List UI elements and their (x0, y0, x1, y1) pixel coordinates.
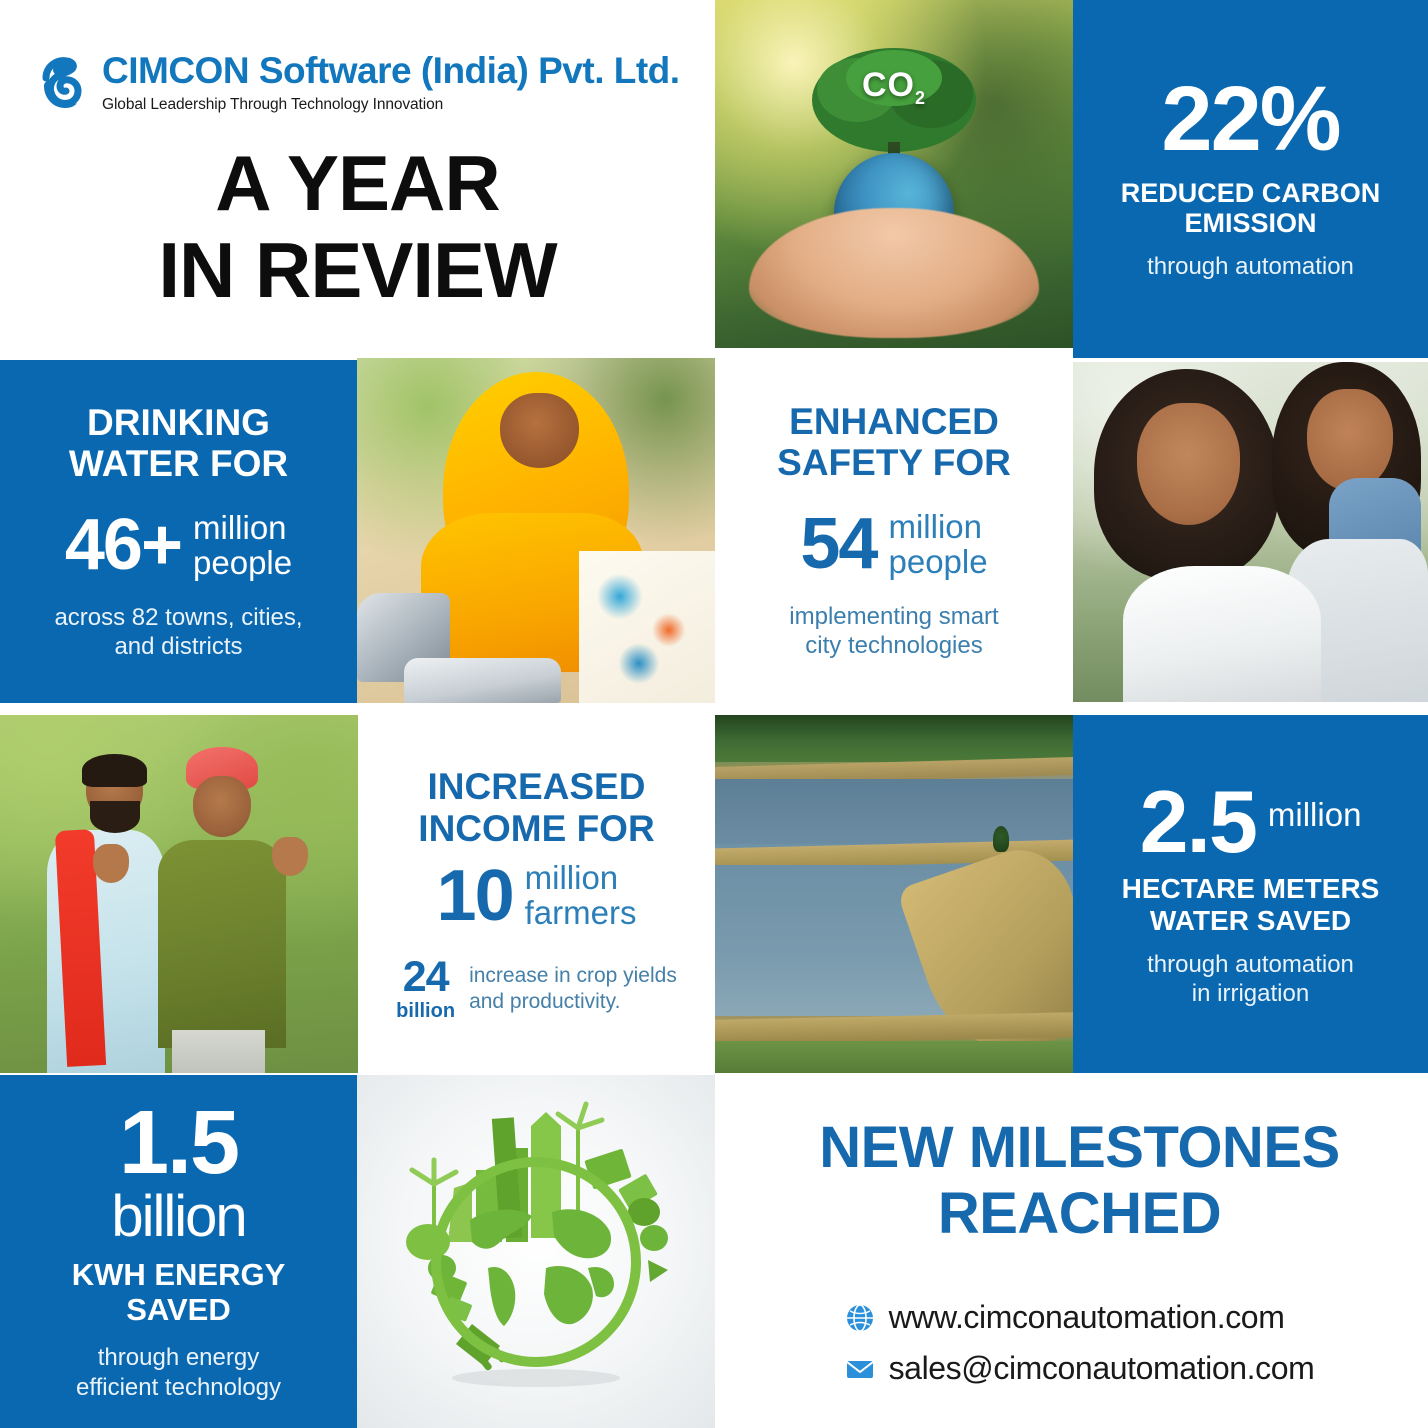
safety-sub-line2: city technologies (789, 631, 998, 660)
cimcon-logo-mark-icon (40, 56, 92, 112)
co2-overlay-label: CO2 (862, 66, 926, 109)
mother-face-art (1137, 403, 1240, 525)
family-photo-art (1073, 362, 1428, 702)
page-title-line2: IN REVIEW (0, 227, 715, 314)
income-unit: million farmers (525, 861, 637, 931)
income-unit-line2: farmers (525, 896, 637, 931)
water-saved-label-line2: WATER SAVED (1150, 905, 1351, 936)
company-logo: CIMCON Software (India) Pvt. Ltd. Global… (40, 52, 680, 114)
safety-sub-line1: implementing smart (789, 602, 998, 631)
eco-earth-art (357, 1075, 715, 1428)
energy-unit: billion (111, 1189, 245, 1244)
income-mini-unit: billion (396, 1000, 455, 1022)
water-saved-sub-line2: in irrigation (1147, 979, 1354, 1008)
energy-sub-line2: efficient technology (76, 1373, 281, 1402)
safety-head-line1: ENHANCED (789, 401, 999, 442)
page-title: A YEAR IN REVIEW (0, 140, 715, 315)
milestones-title: NEW MILESTONES REACHED (819, 1115, 1339, 1247)
website-row[interactable]: www.cimconautomation.com (845, 1299, 1315, 1336)
safety-unit-line1: million (888, 510, 987, 545)
milestones-title-line2: REACHED (819, 1181, 1339, 1247)
energy-value: 1.5 (119, 1101, 238, 1187)
hands-art (749, 208, 1039, 338)
stat-carbon-emission: 22% REDUCED CARBON EMISSION through auto… (1073, 0, 1428, 358)
green-earth-icon (376, 1092, 696, 1412)
water-head-line1: DRINKING (87, 402, 270, 443)
income-mini-text: increase in crop yields and productivity… (469, 963, 677, 1016)
carbon-sub: through automation (1147, 252, 1354, 281)
farmer2-thumb-art (272, 837, 308, 876)
stat-increased-income: INCREASED INCOME FOR 10 million farmers … (358, 715, 715, 1073)
reservoir-photo (715, 715, 1073, 1073)
contact-info: www.cimconautomation.com sales@cimconaut… (845, 1299, 1315, 1401)
water-saved-label-line1: HECTARE METERS (1122, 873, 1380, 904)
water-saved-sub-line1: through automation (1147, 950, 1354, 979)
water-saved-value: 2.5 (1140, 780, 1256, 864)
envelope-icon (845, 1354, 875, 1384)
farmer2-head-art (193, 776, 250, 837)
safety-head-line2: SAFETY FOR (777, 442, 1011, 483)
income-unit-line1: million (525, 861, 637, 896)
water-unit-line2: people (193, 546, 292, 581)
stat-enhanced-safety: ENHANCED SAFETY FOR 54 million people im… (715, 358, 1073, 703)
water-sub-line2: and districts (54, 632, 302, 661)
reservoir-photo-art (715, 715, 1073, 1073)
income-head-line1: INCREASED (428, 766, 646, 807)
header-block: CIMCON Software (India) Pvt. Ltd. Global… (0, 0, 715, 358)
farmers-photo-art (0, 715, 358, 1073)
milestones-title-line1: NEW MILESTONES (819, 1115, 1339, 1181)
daughter-face-art (1307, 389, 1392, 491)
eco-earth-illustration (357, 1075, 715, 1428)
family-photo (1073, 362, 1428, 702)
carbon-value: 22% (1161, 76, 1339, 163)
income-head-line2: INCOME FOR (418, 808, 654, 849)
safety-unit-line2: people (888, 545, 987, 580)
skirt-art (579, 551, 715, 703)
stat-water-saved: 2.5 million HECTARE METERS WATER SAVED t… (1073, 715, 1428, 1073)
water-unit: million people (193, 511, 292, 581)
farmers-photo (0, 715, 358, 1073)
grass-band-art (715, 1041, 1073, 1073)
co2-photo-art: CO2 (715, 0, 1073, 348)
upper-pond-art (715, 779, 1073, 843)
water-value: 46+ (65, 511, 181, 579)
energy-sub-line1: through energy (76, 1343, 281, 1372)
company-name: CIMCON Software (India) Pvt. Ltd. (102, 52, 680, 89)
farmer1-hair-art (82, 754, 146, 786)
farmer1-beard-art (90, 801, 140, 833)
email-row[interactable]: sales@cimconautomation.com (845, 1350, 1315, 1387)
farmer2-body-art (158, 840, 287, 1048)
safety-unit: million people (888, 510, 987, 580)
page-title-line1: A YEAR (0, 140, 715, 227)
website-text: www.cimconautomation.com (889, 1299, 1285, 1336)
pot-art (404, 658, 562, 703)
mother-shirt-art (1123, 566, 1322, 702)
carbon-label-line2: EMISSION (1184, 208, 1316, 238)
co2-globe-photo: CO2 (715, 0, 1073, 348)
safety-value: 54 (800, 510, 876, 578)
energy-label: KWH ENERGY SAVED (24, 1258, 333, 1327)
income-secondary-stat: 24 billion increase in crop yields and p… (396, 957, 677, 1022)
globe-icon (845, 1303, 875, 1333)
income-value: 10 (437, 862, 513, 930)
infographic-canvas: CIMCON Software (India) Pvt. Ltd. Global… (0, 0, 1428, 1428)
stat-drinking-water: DRINKING WATER FOR 46+ million people ac… (0, 360, 357, 703)
water-unit-line1: million (193, 511, 292, 546)
carbon-label-line1: REDUCED CARBON (1121, 178, 1381, 208)
water-sub-line1: across 82 towns, cities, (54, 603, 302, 632)
milestones-block: NEW MILESTONES REACHED www.cimconautomat… (715, 1075, 1428, 1428)
woman-water-pump-photo (357, 358, 715, 703)
forest-band-art (715, 715, 1073, 762)
income-mini-text-line2: and productivity. (469, 989, 677, 1015)
stat-energy-saved: 1.5 billion KWH ENERGY SAVED through ene… (0, 1075, 357, 1428)
lone-tree-art (993, 826, 1009, 852)
water-head-line2: WATER FOR (69, 443, 288, 484)
income-mini-value: 24 (396, 957, 455, 998)
company-tagline: Global Leadership Through Technology Inn… (102, 96, 680, 114)
farmer2-pants-art (172, 1030, 265, 1073)
face-art (500, 393, 579, 469)
farmer1-thumb-art (93, 844, 129, 883)
woman-photo-art (357, 358, 715, 703)
email-text: sales@cimconautomation.com (889, 1350, 1315, 1387)
income-mini-text-line1: increase in crop yields (469, 963, 677, 989)
water-saved-unit: million (1268, 798, 1362, 833)
